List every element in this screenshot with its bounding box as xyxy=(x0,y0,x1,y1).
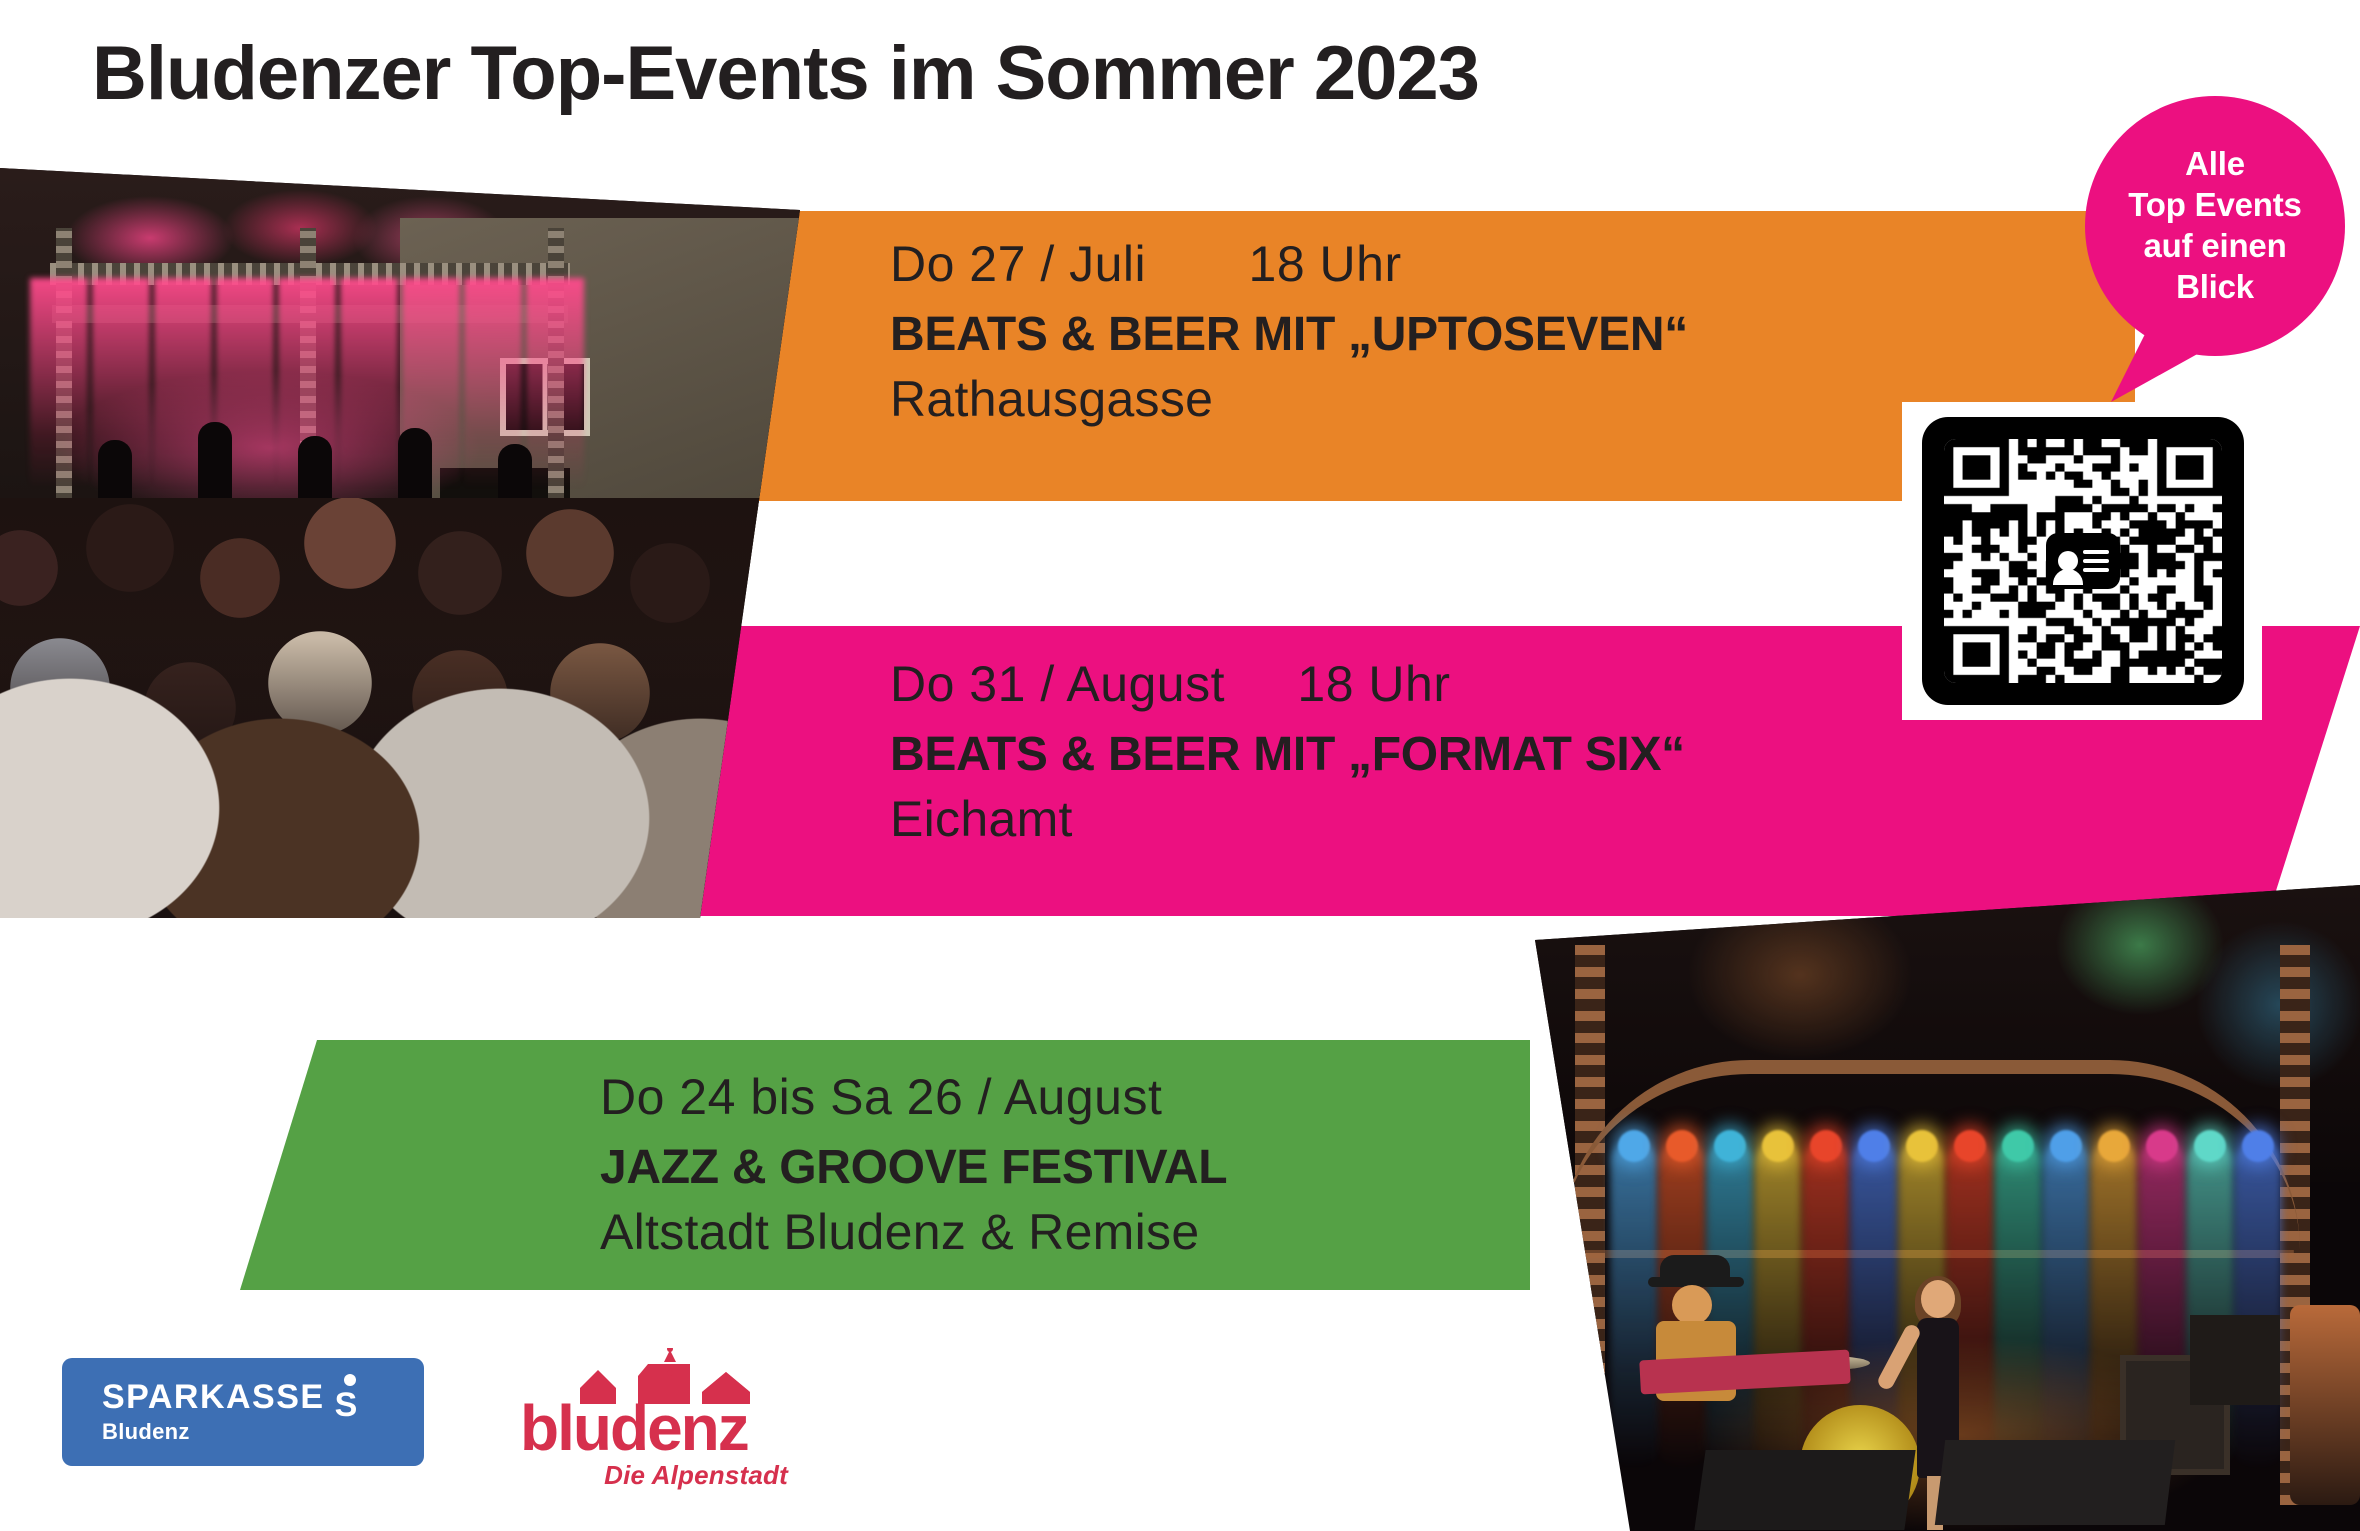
event-entry-orange: Do 27 / Juli 18 Uhr BEATS & BEER MIT „UP… xyxy=(890,235,1688,428)
event-name: BEATS & BEER MIT „FORMAT SIX“ xyxy=(890,727,1685,782)
qr-code[interactable] xyxy=(1922,417,2244,705)
contact-card-icon xyxy=(2046,533,2120,589)
top-events-callout-bubble: Alle Top Events auf einen Blick xyxy=(2085,96,2345,356)
bludenz-tagline: Die Alpenstadt xyxy=(604,1460,788,1491)
event-name: BEATS & BEER MIT „UPTOSEVEN“ xyxy=(890,307,1688,362)
sparkasse-branch-name: Bludenz xyxy=(102,1419,365,1445)
night-concert-crowd-photo xyxy=(0,168,800,918)
sparkasse-bludenz-logo: SPARKASSE S Bludenz xyxy=(62,1358,424,1466)
bubble-line-3: auf einen xyxy=(2143,229,2286,264)
poster-canvas: Bludenzer Top-Events im Sommer 2023 Do 2… xyxy=(0,0,2360,1531)
bludenz-wordmark: bludenz xyxy=(520,1396,790,1460)
event-name: JAZZ & GROOVE FESTIVAL xyxy=(600,1140,1227,1195)
sparkasse-wordmark: SPARKASSE xyxy=(102,1380,325,1414)
bubble-line-2: Top Events xyxy=(2128,188,2301,223)
event-location: Eichamt xyxy=(890,790,1685,848)
event-time: 18 Uhr xyxy=(1249,235,1402,293)
bubble-line-4: Blick xyxy=(2176,270,2254,305)
event-time: 18 Uhr xyxy=(1297,655,1450,713)
sparkasse-s-icon: S xyxy=(335,1380,365,1414)
event-location: Rathausgasse xyxy=(890,370,1688,428)
jazz-stage-concert-photo xyxy=(1500,885,2360,1531)
event-date: Do 31 / August xyxy=(890,656,1225,712)
event-date: Do 27 / Juli xyxy=(890,236,1146,292)
event-location: Altstadt Bludenz & Remise xyxy=(600,1203,1227,1261)
bubble-line-1: Alle xyxy=(2185,147,2245,182)
event-entry-green: Do 24 bis Sa 26 / August JAZZ & GROOVE F… xyxy=(600,1068,1227,1261)
page-title: Bludenzer Top-Events im Sommer 2023 xyxy=(92,30,1479,117)
event-date: Do 24 bis Sa 26 / August xyxy=(600,1069,1162,1125)
bludenz-city-logo: bludenz Die Alpenstadt xyxy=(520,1348,790,1488)
event-entry-pink: Do 31 / August 18 Uhr BEATS & BEER MIT „… xyxy=(890,655,1685,848)
